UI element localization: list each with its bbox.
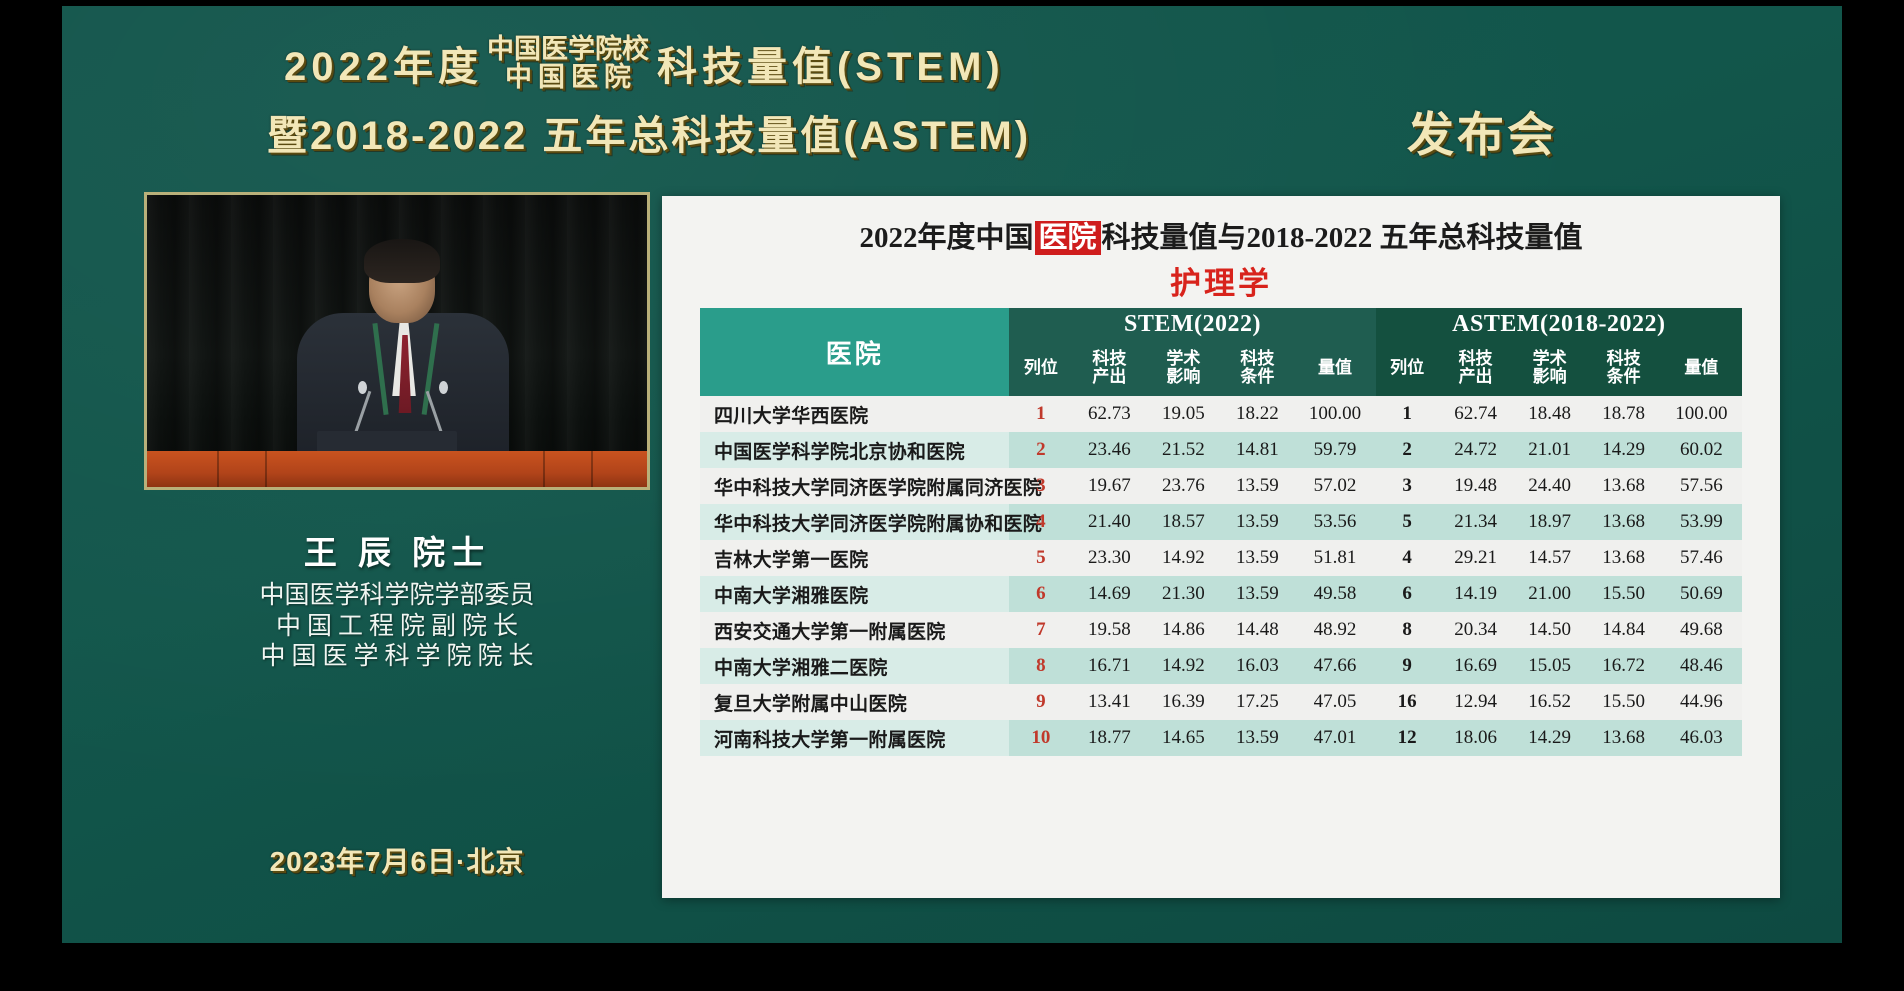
cell-astem-condition: 18.78 <box>1587 396 1661 432</box>
cell-stem-impact: 21.30 <box>1146 576 1220 612</box>
cell-hospital-name: 华中科技大学同济医学院附属协和医院 <box>700 504 1009 540</box>
cell-astem-condition: 14.29 <box>1587 432 1661 468</box>
cell-hospital-name: 河南科技大学第一附属医院 <box>700 720 1009 756</box>
col-header-stem-condition-l1: 科技 <box>1220 350 1294 368</box>
card-title: 2022年度中国医院科技量值与2018-2022 五年总科技量值 <box>662 214 1780 256</box>
table-row: 西安交通大学第一附属医院719.5814.8614.4848.92820.341… <box>700 612 1742 648</box>
cell-stem-rank: 9 <box>1009 684 1072 720</box>
cell-astem-output: 29.21 <box>1439 540 1513 576</box>
cell-stem-condition: 13.59 <box>1220 468 1294 504</box>
letterbox-bottom <box>0 943 1904 991</box>
table-row: 华中科技大学同济医学院附属同济医院319.6723.7613.5957.0231… <box>700 468 1742 504</box>
letterbox-right <box>1842 0 1904 991</box>
speaker-title-list: 中国医学科学院学部委员 中国工程院副院长 中国医学科学院院长 <box>144 580 650 672</box>
cell-stem-impact: 21.52 <box>1146 432 1220 468</box>
cell-hospital-name: 华中科技大学同济医学院附属同济医院 <box>700 468 1009 504</box>
title-year-prefix: 2022年度 <box>284 34 483 92</box>
title-stacked-subjects: 中国医学院校 中国医院 <box>487 35 649 91</box>
cell-astem-value: 53.99 <box>1661 504 1742 540</box>
cell-stem-value: 100.00 <box>1294 396 1375 432</box>
cell-stem-value: 47.01 <box>1294 720 1375 756</box>
cell-stem-value: 48.92 <box>1294 612 1375 648</box>
cell-astem-value: 46.03 <box>1661 720 1742 756</box>
cell-astem-impact: 21.01 <box>1513 432 1587 468</box>
cell-astem-condition: 15.50 <box>1587 684 1661 720</box>
cell-stem-condition: 14.48 <box>1220 612 1294 648</box>
col-header-stem-value: 量值 <box>1294 340 1375 396</box>
cell-astem-impact: 16.52 <box>1513 684 1587 720</box>
speaker-name: 王 辰 院士 <box>144 526 650 574</box>
ranking-card: 2022年度中国医院科技量值与2018-2022 五年总科技量值 护理学 医院 … <box>662 196 1780 898</box>
cell-astem-condition: 13.68 <box>1587 720 1661 756</box>
table-head: 医院 STEM(2022) ASTEM(2018-2022) 列位 科技 产出 <box>700 308 1742 396</box>
col-header-astem-output: 科技 产出 <box>1439 340 1513 396</box>
title-stem-suffix: 科技量值(STEM) <box>657 34 1005 92</box>
cell-astem-condition: 16.72 <box>1587 648 1661 684</box>
speaker-hair <box>364 239 440 283</box>
col-header-astem-impact-l2: 影响 <box>1513 368 1587 386</box>
col-header-stem-condition: 科技 条件 <box>1220 340 1294 396</box>
table-row: 河南科技大学第一附属医院1018.7714.6513.5947.011218.0… <box>700 720 1742 756</box>
microphone-left-capsule <box>358 381 367 394</box>
col-header-stem-output: 科技 产出 <box>1072 340 1146 396</box>
title-line-1: 2022年度 中国医学院校 中国医院 科技量值(STEM) <box>284 34 1005 92</box>
cell-stem-condition: 17.25 <box>1220 684 1294 720</box>
col-header-hospital: 医院 <box>700 308 1009 396</box>
col-header-stem-rank: 列位 <box>1009 340 1072 396</box>
cell-astem-rank: 5 <box>1376 504 1439 540</box>
cell-stem-condition: 13.59 <box>1220 576 1294 612</box>
col-header-stem-impact: 学术 影响 <box>1146 340 1220 396</box>
cell-astem-rank: 6 <box>1376 576 1439 612</box>
cell-hospital-name: 吉林大学第一医院 <box>700 540 1009 576</box>
cell-stem-rank: 5 <box>1009 540 1072 576</box>
cell-astem-value: 50.69 <box>1661 576 1742 612</box>
speaker-title-1: 中国医学科学院学部委员 <box>144 580 650 611</box>
cell-stem-impact: 18.57 <box>1146 504 1220 540</box>
cell-stem-impact: 14.92 <box>1146 648 1220 684</box>
cell-astem-impact: 21.00 <box>1513 576 1587 612</box>
cell-stem-output: 62.73 <box>1072 396 1146 432</box>
cell-astem-value: 44.96 <box>1661 684 1742 720</box>
cell-astem-condition: 14.84 <box>1587 612 1661 648</box>
col-header-stem-output-l2: 产出 <box>1072 368 1146 386</box>
cell-astem-value: 60.02 <box>1661 432 1742 468</box>
col-header-stem-impact-l1: 学术 <box>1146 350 1220 368</box>
col-header-astem-condition-l2: 条件 <box>1587 368 1661 386</box>
cell-astem-output: 14.19 <box>1439 576 1513 612</box>
cell-hospital-name: 中国医学科学院北京协和医院 <box>700 432 1009 468</box>
speaker-video-panel[interactable] <box>144 192 650 490</box>
cell-stem-output: 23.30 <box>1072 540 1146 576</box>
cell-astem-condition: 13.68 <box>1587 504 1661 540</box>
title-line-2: 暨2018-2022 五年总科技量值(ASTEM) <box>267 103 1031 161</box>
cell-astem-condition: 13.68 <box>1587 540 1661 576</box>
cell-stem-output: 23.46 <box>1072 432 1146 468</box>
cell-stem-rank: 2 <box>1009 432 1072 468</box>
podium-seam <box>591 451 593 487</box>
cell-stem-value: 47.66 <box>1294 648 1375 684</box>
broadcast-frame: 2022年度 中国医学院校 中国医院 科技量值(STEM) 暨2018-2022… <box>0 0 1904 991</box>
cell-stem-impact: 14.86 <box>1146 612 1220 648</box>
video-feed-image <box>147 195 647 487</box>
table-row: 复旦大学附属中山医院913.4116.3917.2547.051612.9416… <box>700 684 1742 720</box>
cell-astem-rank: 2 <box>1376 432 1439 468</box>
cell-astem-impact: 15.05 <box>1513 648 1587 684</box>
card-title-highlight: 医院 <box>1035 221 1101 255</box>
cell-astem-output: 12.94 <box>1439 684 1513 720</box>
cell-astem-value: 57.56 <box>1661 468 1742 504</box>
cell-astem-output: 19.48 <box>1439 468 1513 504</box>
title-event-suffix: 发布会 <box>1407 96 1557 165</box>
cell-astem-impact: 14.29 <box>1513 720 1587 756</box>
podium <box>147 451 647 487</box>
cell-astem-impact: 24.40 <box>1513 468 1587 504</box>
cell-hospital-name: 复旦大学附属中山医院 <box>700 684 1009 720</box>
cell-stem-value: 53.56 <box>1294 504 1375 540</box>
slide-title-block: 2022年度 中国医学院校 中国医院 科技量值(STEM) 暨2018-2022… <box>62 18 1842 168</box>
table-row: 中南大学湘雅医院614.6921.3013.5949.58614.1921.00… <box>700 576 1742 612</box>
cell-astem-output: 21.34 <box>1439 504 1513 540</box>
speaker-title-3: 中国医学科学院院长 <box>144 641 650 672</box>
col-header-stem-output-l1: 科技 <box>1072 350 1146 368</box>
cell-astem-value: 48.46 <box>1661 648 1742 684</box>
card-subject-discipline: 护理学 <box>662 258 1780 303</box>
cell-stem-impact: 16.39 <box>1146 684 1220 720</box>
cell-stem-value: 59.79 <box>1294 432 1375 468</box>
cell-stem-rank: 7 <box>1009 612 1072 648</box>
table-group-header-row: 医院 STEM(2022) ASTEM(2018-2022) <box>700 308 1742 340</box>
cell-astem-output: 20.34 <box>1439 612 1513 648</box>
cell-astem-output: 24.72 <box>1439 432 1513 468</box>
letterbox-top <box>0 0 1904 6</box>
cell-astem-rank: 3 <box>1376 468 1439 504</box>
table-body: 四川大学华西医院162.7319.0518.22100.00162.7418.4… <box>700 396 1742 756</box>
cell-stem-condition: 14.81 <box>1220 432 1294 468</box>
cell-stem-output: 21.40 <box>1072 504 1146 540</box>
cell-stem-impact: 14.65 <box>1146 720 1220 756</box>
col-header-astem-condition: 科技 条件 <box>1587 340 1661 396</box>
title-stack-top: 中国医学院校 <box>487 35 649 63</box>
card-title-part-1: 2022年度中国 <box>860 222 1034 254</box>
table-row: 四川大学华西医院162.7319.0518.22100.00162.7418.4… <box>700 396 1742 432</box>
cell-hospital-name: 中南大学湘雅二医院 <box>700 648 1009 684</box>
cell-stem-impact: 23.76 <box>1146 468 1220 504</box>
cell-stem-rank: 10 <box>1009 720 1072 756</box>
cell-stem-value: 51.81 <box>1294 540 1375 576</box>
cell-stem-impact: 14.92 <box>1146 540 1220 576</box>
table-row: 中南大学湘雅二医院816.7114.9216.0347.66916.6915.0… <box>700 648 1742 684</box>
cell-astem-output: 18.06 <box>1439 720 1513 756</box>
speaker-title-2: 中国工程院副院长 <box>144 611 650 642</box>
event-date-location: 2023年7月6日·北京 <box>144 840 650 880</box>
podium-seam <box>543 451 545 487</box>
ranking-table: 医院 STEM(2022) ASTEM(2018-2022) 列位 科技 产出 <box>700 308 1742 756</box>
cell-astem-value: 100.00 <box>1661 396 1742 432</box>
cell-stem-condition: 18.22 <box>1220 396 1294 432</box>
col-group-header-stem: STEM(2022) <box>1009 308 1375 340</box>
cell-astem-rank: 8 <box>1376 612 1439 648</box>
cell-astem-impact: 18.48 <box>1513 396 1587 432</box>
col-header-astem-condition-l1: 科技 <box>1587 350 1661 368</box>
cell-astem-rank: 4 <box>1376 540 1439 576</box>
podium-seam <box>217 451 219 487</box>
cell-astem-output: 62.74 <box>1439 396 1513 432</box>
cell-hospital-name: 西安交通大学第一附属医院 <box>700 612 1009 648</box>
col-header-astem-output-l1: 科技 <box>1439 350 1513 368</box>
col-header-stem-impact-l2: 影响 <box>1146 368 1220 386</box>
cell-stem-output: 16.71 <box>1072 648 1146 684</box>
cell-astem-impact: 14.57 <box>1513 540 1587 576</box>
cell-stem-output: 14.69 <box>1072 576 1146 612</box>
cell-stem-impact: 19.05 <box>1146 396 1220 432</box>
cell-stem-output: 19.67 <box>1072 468 1146 504</box>
title-stack-bottom: 中国医院 <box>487 63 649 91</box>
cell-stem-value: 47.05 <box>1294 684 1375 720</box>
table-row: 吉林大学第一医院523.3014.9213.5951.81429.2114.57… <box>700 540 1742 576</box>
cell-stem-value: 49.58 <box>1294 576 1375 612</box>
cell-astem-output: 16.69 <box>1439 648 1513 684</box>
cell-stem-output: 19.58 <box>1072 612 1146 648</box>
cell-stem-condition: 13.59 <box>1220 504 1294 540</box>
cell-hospital-name: 四川大学华西医院 <box>700 396 1009 432</box>
podium-seam <box>265 451 267 487</box>
col-group-header-astem: ASTEM(2018-2022) <box>1376 308 1742 340</box>
cell-stem-value: 57.02 <box>1294 468 1375 504</box>
cell-astem-rank: 1 <box>1376 396 1439 432</box>
ranking-table-wrapper: 医院 STEM(2022) ASTEM(2018-2022) 列位 科技 产出 <box>700 308 1742 756</box>
cell-stem-condition: 16.03 <box>1220 648 1294 684</box>
col-header-astem-impact-l1: 学术 <box>1513 350 1587 368</box>
cell-hospital-name: 中南大学湘雅医院 <box>700 576 1009 612</box>
cell-astem-rank: 9 <box>1376 648 1439 684</box>
presentation-slide: 2022年度 中国医学院校 中国医院 科技量值(STEM) 暨2018-2022… <box>62 6 1842 943</box>
col-header-astem-impact: 学术 影响 <box>1513 340 1587 396</box>
table-row: 华中科技大学同济医学院附属协和医院421.4018.5713.5953.5652… <box>700 504 1742 540</box>
cell-astem-value: 57.46 <box>1661 540 1742 576</box>
cell-stem-condition: 13.59 <box>1220 720 1294 756</box>
col-header-astem-output-l2: 产出 <box>1439 368 1513 386</box>
cell-stem-rank: 6 <box>1009 576 1072 612</box>
cell-astem-condition: 13.68 <box>1587 468 1661 504</box>
cell-astem-rank: 16 <box>1376 684 1439 720</box>
microphone-right-capsule <box>439 381 448 394</box>
cell-stem-output: 18.77 <box>1072 720 1146 756</box>
card-title-part-2: 科技量值与2018-2022 五年总科技量值 <box>1102 222 1583 254</box>
cell-astem-condition: 15.50 <box>1587 576 1661 612</box>
cell-astem-impact: 18.97 <box>1513 504 1587 540</box>
table-row: 中国医学科学院北京协和医院223.4621.5214.8159.79224.72… <box>700 432 1742 468</box>
letterbox-left <box>0 0 62 991</box>
cell-stem-output: 13.41 <box>1072 684 1146 720</box>
col-header-astem-value: 量值 <box>1661 340 1742 396</box>
col-header-astem-rank: 列位 <box>1376 340 1439 396</box>
cell-stem-condition: 13.59 <box>1220 540 1294 576</box>
col-header-stem-condition-l2: 条件 <box>1220 368 1294 386</box>
cell-stem-rank: 1 <box>1009 396 1072 432</box>
cell-stem-rank: 8 <box>1009 648 1072 684</box>
cell-astem-value: 49.68 <box>1661 612 1742 648</box>
cell-astem-rank: 12 <box>1376 720 1439 756</box>
cell-astem-impact: 14.50 <box>1513 612 1587 648</box>
